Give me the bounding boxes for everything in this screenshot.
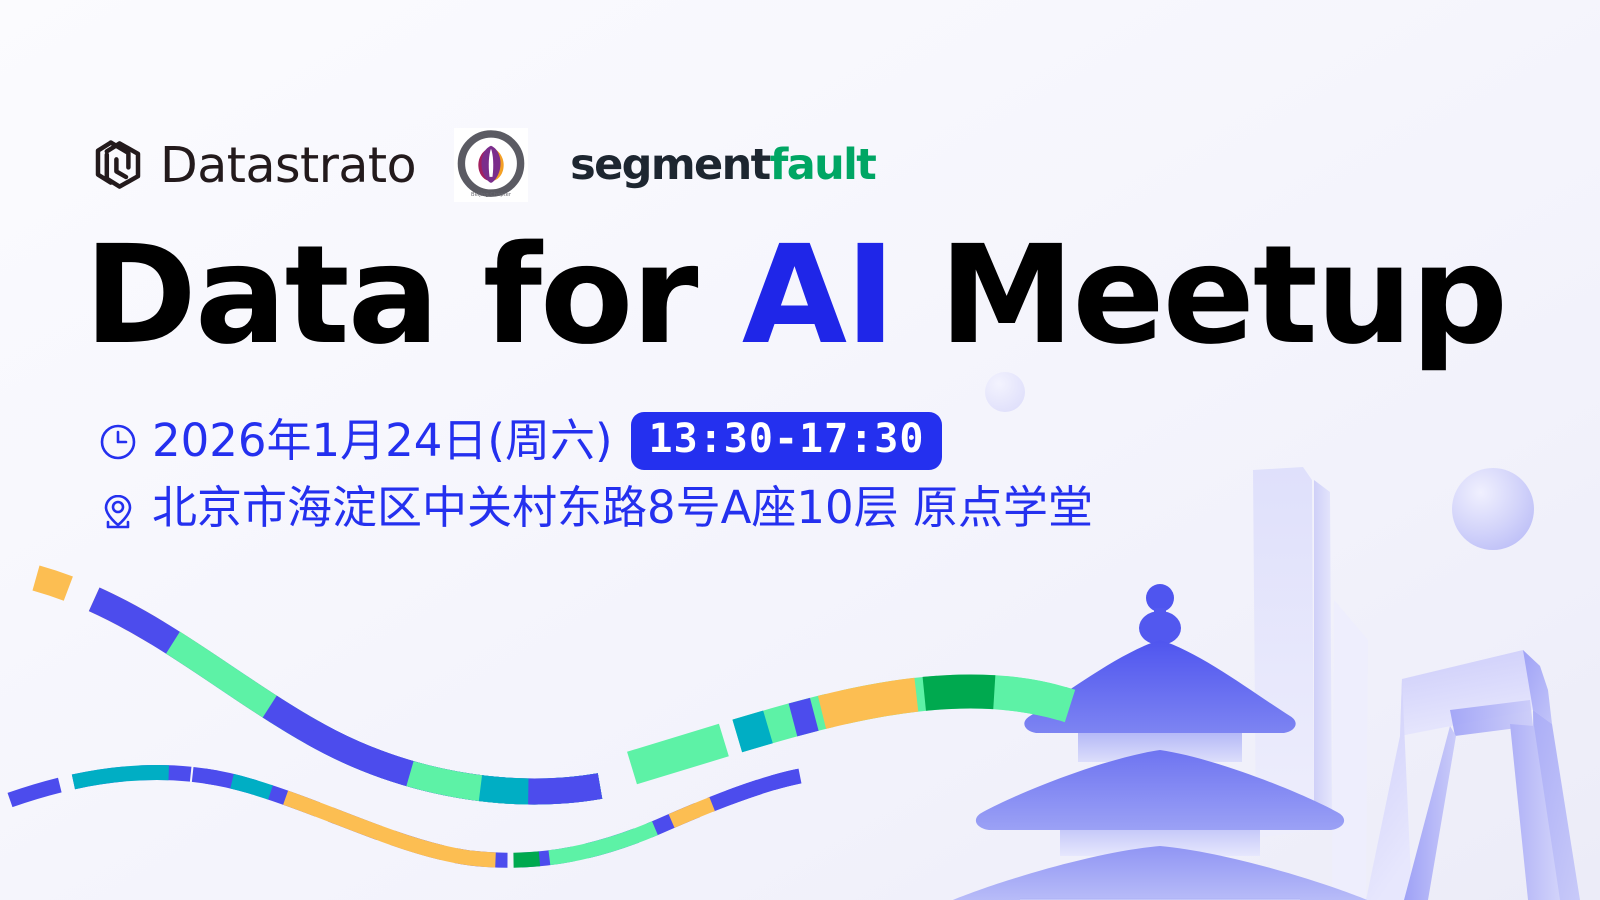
event-date-row: 2026年1月24日(周六) 13:30-17:30 <box>96 412 1093 470</box>
segmentfault-word-fault: fault <box>770 140 876 190</box>
location-pin-icon <box>96 486 140 530</box>
page-title: Data for AI Meetup <box>84 228 1506 364</box>
event-venue-text: 北京市海淀区中关村东路8号A座10层 原点学堂 <box>152 484 1093 533</box>
apache-local-community-badge-icon[interactable]: Beijing Chapter <box>454 128 528 202</box>
title-accent-ai: AI <box>742 217 894 375</box>
datastrato-logo[interactable]: Datastrato <box>92 137 416 193</box>
event-date-text: 2026年1月24日(周六) <box>152 417 613 466</box>
datastrato-hexagon-icon <box>92 137 144 193</box>
title-part-before: Data for <box>84 217 742 375</box>
poster-canvas: Datastrato Beijing Chapter segmentfault … <box>0 0 1600 900</box>
title-part-after: Meetup <box>894 217 1506 375</box>
segmentfault-logo[interactable]: segmentfault <box>570 144 875 187</box>
segmentfault-word-segment: segment <box>570 140 769 190</box>
event-details: 2026年1月24日(周六) 13:30-17:30 北京市海淀区中关村东路8号… <box>96 412 1093 532</box>
clock-icon <box>96 419 140 463</box>
sponsor-logo-row: Datastrato Beijing Chapter segmentfault <box>92 128 875 202</box>
event-time-badge: 13:30-17:30 <box>631 412 943 470</box>
datastrato-wordmark: Datastrato <box>160 141 416 190</box>
event-venue-row: 北京市海淀区中关村东路8号A座10层 原点学堂 <box>96 484 1093 533</box>
svg-text:Beijing Chapter: Beijing Chapter <box>471 192 512 198</box>
